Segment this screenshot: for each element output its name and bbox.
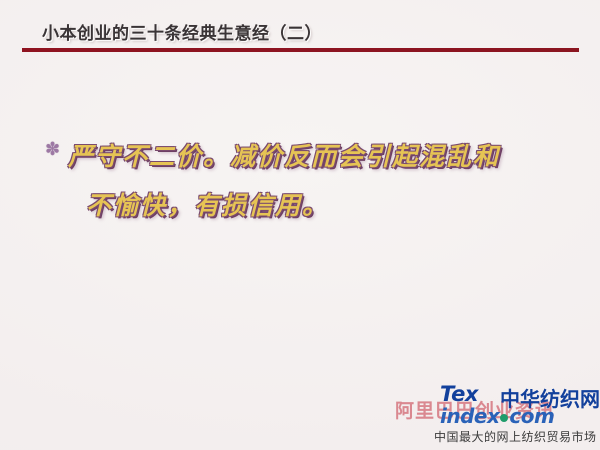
slide-header: 小本创业的三十条经典生意经（二） [0, 0, 600, 58]
watermark: 阿里巴巴创业资讯 Tex 中华纺织网 indexcom 中国最大的网上纺织贸易市… [392, 378, 600, 450]
page-title: 小本创业的三十条经典生意经（二） [42, 19, 322, 44]
watermark-tagline: 中国最大的网上纺织贸易市场 [434, 428, 597, 445]
bullet-line-1: 严守不二价。减价反而会引起混乱和 [68, 142, 500, 171]
flower-bullet-icon: ✽ [44, 141, 61, 158]
slide-body: ✽ 严守不二价。减价反而会引起混乱和 不愉快，有损信用。 [40, 132, 585, 230]
presentation-slide: 小本创业的三十条经典生意经（二） ✽ 严守不二价。减价反而会引起混乱和 不愉快，… [0, 0, 600, 450]
logo-dot-icon [500, 414, 508, 422]
title-divider [22, 48, 579, 52]
logo-index-text: index [440, 404, 499, 428]
logo-com-text: com [509, 404, 554, 428]
logo-tex-text: Tex [440, 382, 478, 406]
list-item: ✽ 严守不二价。减价反而会引起混乱和 不愉快，有损信用。 [40, 132, 585, 230]
bullet-line-2: 不愉快，有损信用。 [68, 181, 585, 230]
bullet-text: 严守不二价。减价反而会引起混乱和 不愉快，有损信用。 [68, 132, 585, 230]
logo-domain: indexcom [440, 404, 554, 428]
texindex-logo: Tex 中华纺织网 indexcom [440, 380, 600, 426]
